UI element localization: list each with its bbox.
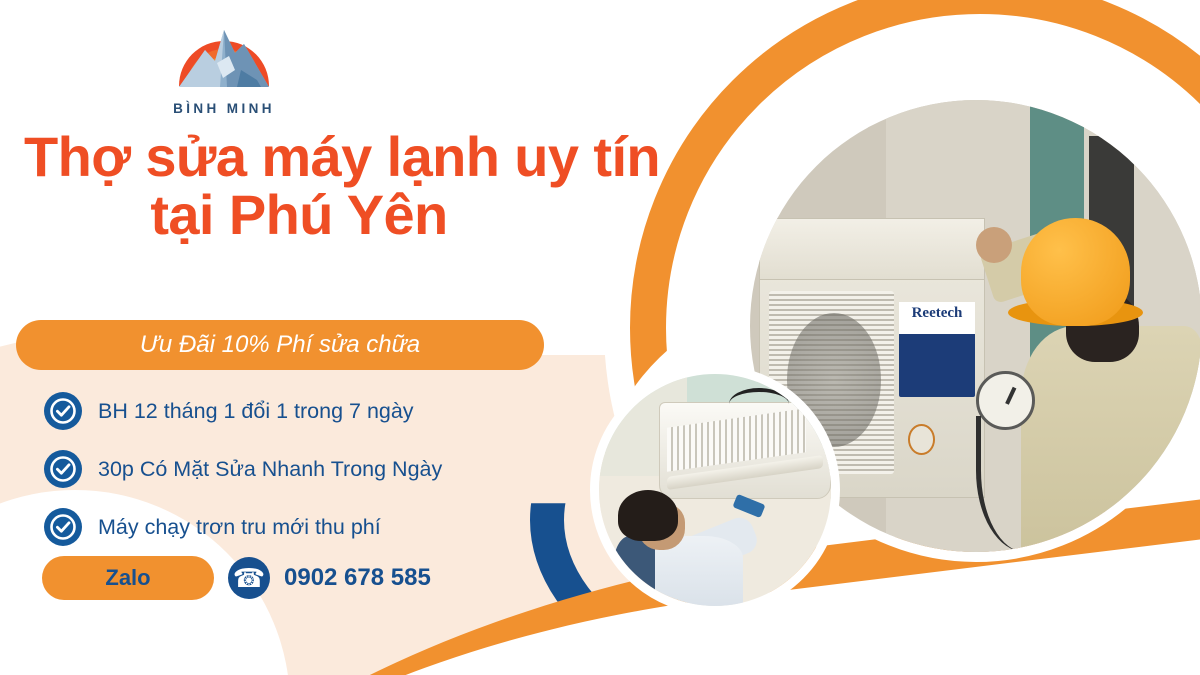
zalo-button[interactable]: Zalo <box>42 556 214 600</box>
brand-logo[interactable]: BÌNH MINH <box>165 8 283 116</box>
gauge-needle <box>1006 387 1017 405</box>
check-circle-icon <box>44 392 82 430</box>
zalo-label: Zalo <box>105 565 150 591</box>
photo-content-small <box>599 374 831 606</box>
technician-indoor-unit-photo <box>590 365 840 615</box>
unit-valve-cap <box>908 424 935 455</box>
telephone-glyph: ☎ <box>233 565 265 591</box>
telephone-icon[interactable]: ☎ <box>228 557 270 599</box>
phone-number[interactable]: 0902 678 585 <box>284 564 431 592</box>
headline-line-2: tại Phú Yên <box>24 186 724 244</box>
page-title: Thợ sửa máy lạnh uy tín tại Phú Yên <box>24 128 724 244</box>
benefit-label: 30p Có Mặt Sửa Nhanh Trong Ngày <box>98 457 442 482</box>
benefit-label: Máy chạy trơn tru mới thu phí <box>98 515 381 540</box>
benefit-label: BH 12 tháng 1 đổi 1 trong 7 ngày <box>98 399 414 424</box>
check-circle-icon <box>44 508 82 546</box>
list-item: Máy chạy trơn tru mới thu phí <box>44 501 442 553</box>
benefits-list: BH 12 tháng 1 đổi 1 trong 7 ngày 30p Có … <box>44 385 442 553</box>
headline-line-1: Thợ sửa máy lạnh uy tín <box>24 128 724 186</box>
worker-hair <box>618 490 678 541</box>
unit-top <box>760 219 984 280</box>
brand-name: BÌNH MINH <box>165 101 283 116</box>
promo-label: Ưu Đãi 10% Phí sửa chữa <box>140 331 420 359</box>
list-item: 30p Có Mặt Sửa Nhanh Trong Ngày <box>44 443 442 495</box>
contact-row: Zalo ☎ 0902 678 585 <box>42 556 431 600</box>
reetech-brand-text: Reetech <box>912 305 963 322</box>
promo-badge: Ưu Đãi 10% Phí sửa chữa <box>16 320 544 370</box>
reetech-brand-label: Reetech <box>899 302 975 397</box>
sun-mountain-logo-icon <box>165 8 283 100</box>
check-circle-icon <box>44 450 82 488</box>
promo-banner: Reetech <box>0 0 1200 675</box>
technician-hand <box>976 227 1012 263</box>
list-item: BH 12 tháng 1 đổi 1 trong 7 ngày <box>44 385 442 437</box>
safety-helmet <box>1021 218 1129 326</box>
indoor-unit-cable <box>729 388 789 420</box>
